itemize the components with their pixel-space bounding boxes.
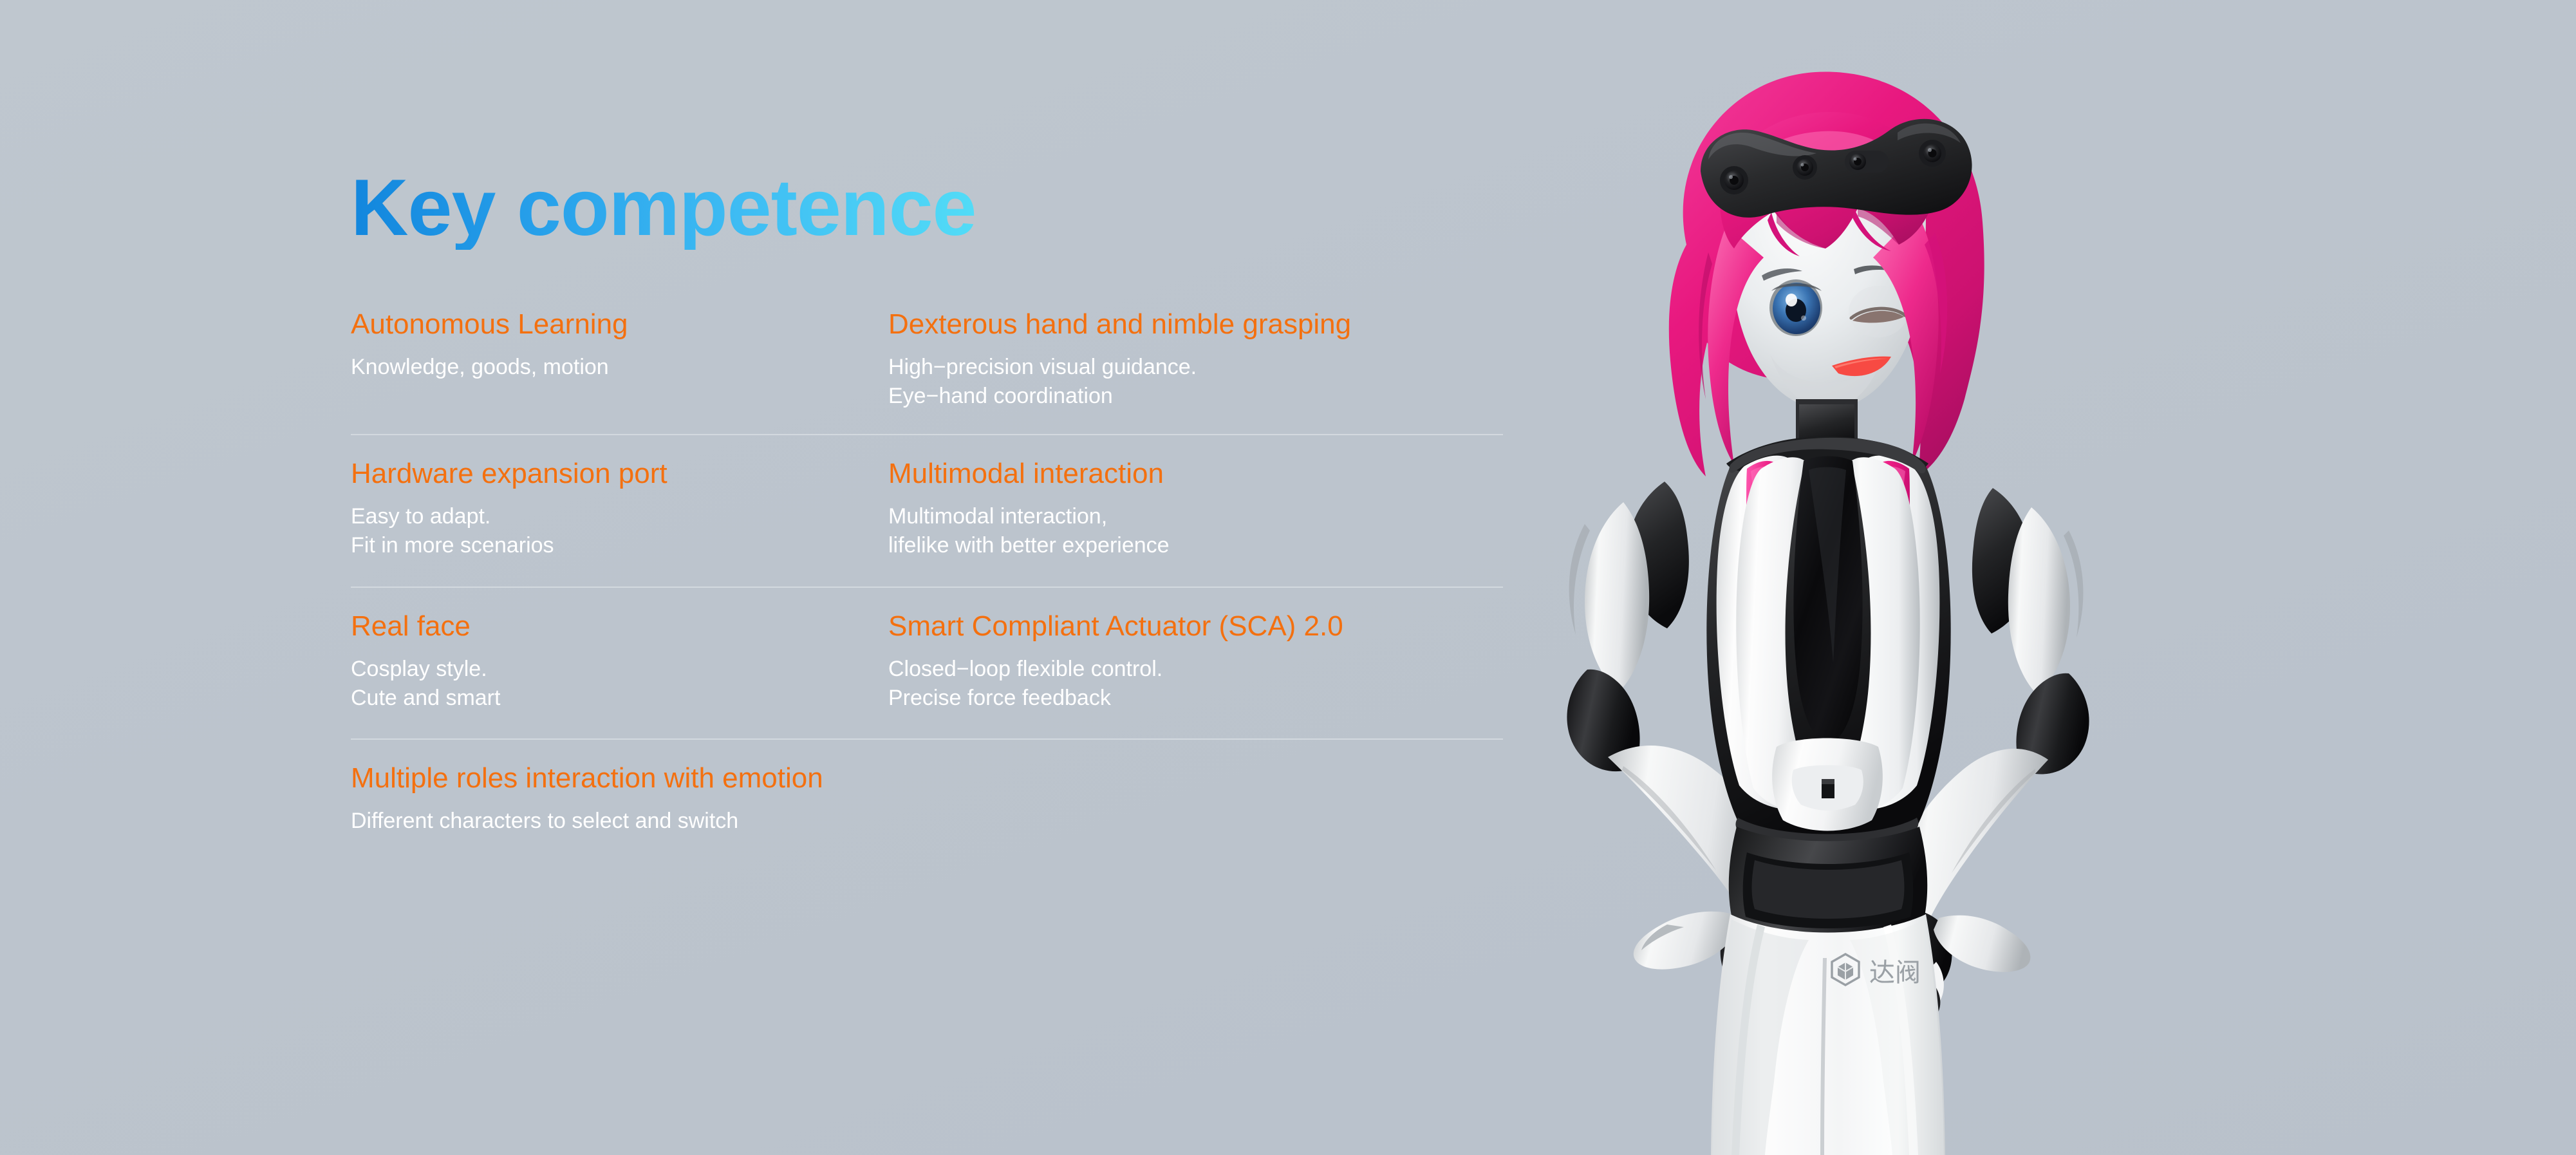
feature-row: Autonomous Learning Knowledge, goods, mo… — [351, 308, 1503, 434]
feature-heading: Smart Compliant Actuator (SCA) 2.0 — [888, 610, 1426, 643]
feature-heading: Dexterous hand and nimble grasping — [888, 308, 1426, 341]
feature-heading: Hardware expansion port — [351, 457, 888, 491]
feature-body: Cosplay style. Cute and smart — [351, 655, 888, 713]
robot-hips — [1729, 827, 1928, 937]
page-title: Key competence — [351, 166, 976, 250]
slide-canvas: Key competence Autonomous Learning Knowl… — [0, 0, 2576, 1155]
feature-item-multiple-roles-interaction[interactable]: Multiple roles interaction with emotion … — [351, 762, 1503, 836]
robot-illustration: 达阀 — [1474, 52, 2156, 1155]
brand-logo-text: 达阀 — [1869, 958, 1921, 988]
feature-row: Real face Cosplay style. Cute and smart … — [351, 587, 1503, 738]
feature-item-real-face[interactable]: Real face Cosplay style. Cute and smart — [351, 610, 888, 713]
feature-heading: Multiple roles interaction with emotion — [351, 762, 1503, 795]
feature-row: Hardware expansion port Easy to adapt. F… — [351, 434, 1503, 586]
feature-heading: Real face — [351, 610, 888, 643]
feature-item-smart-compliant-actuator[interactable]: Smart Compliant Actuator (SCA) 2.0 Close… — [888, 610, 1426, 713]
feature-body: Easy to adapt. Fit in more scenarios — [351, 502, 888, 560]
feature-body: Closed−loop flexible control. Precise fo… — [888, 655, 1426, 713]
feature-heading: Autonomous Learning — [351, 308, 888, 341]
feature-grid: Autonomous Learning Knowledge, goods, mo… — [351, 308, 1503, 842]
robot-torso — [1706, 437, 1950, 850]
feature-body: High−precision visual guidance. Eye−hand… — [888, 353, 1426, 411]
feature-item-hardware-expansion-port[interactable]: Hardware expansion port Easy to adapt. F… — [351, 457, 888, 560]
robot-legs — [1711, 914, 1945, 1155]
feature-body: Multimodal interaction, lifelike with be… — [888, 502, 1426, 560]
feature-item-multimodal-interaction[interactable]: Multimodal interaction Multimodal intera… — [888, 457, 1426, 560]
feature-row: Multiple roles interaction with emotion … — [351, 738, 1503, 842]
feature-body: Different characters to select and switc… — [351, 807, 1503, 836]
feature-heading: Multimodal interaction — [888, 457, 1426, 491]
feature-item-dexterous-hand[interactable]: Dexterous hand and nimble grasping High−… — [888, 308, 1426, 411]
robot-eye-open — [1769, 279, 1822, 336]
feature-body: Knowledge, goods, motion — [351, 353, 888, 382]
feature-item-autonomous-learning[interactable]: Autonomous Learning Knowledge, goods, mo… — [351, 308, 888, 411]
